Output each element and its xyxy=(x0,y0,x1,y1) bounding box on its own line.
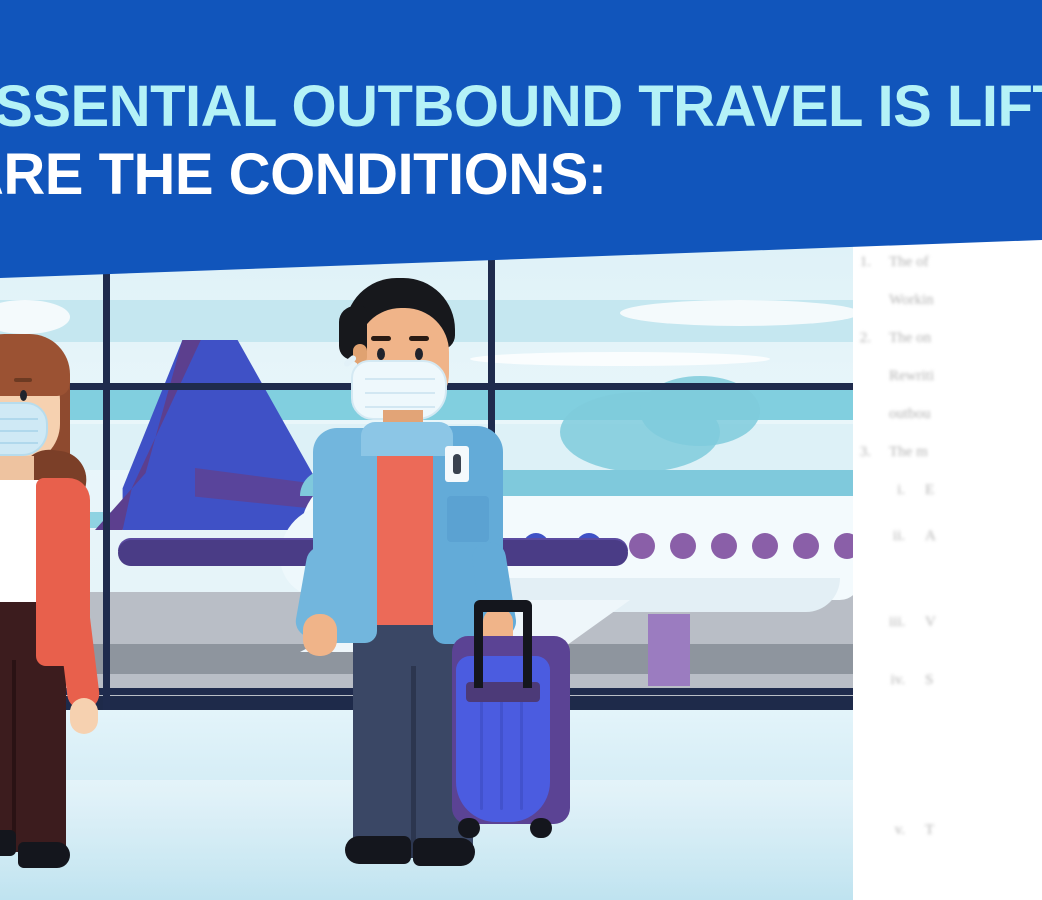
list-item: 1. The of xyxy=(853,248,1042,276)
list-item-number: 3. xyxy=(853,438,871,466)
eyebrow xyxy=(409,336,429,341)
sublist-item-text: S xyxy=(925,666,1042,694)
sublist-item: v. T xyxy=(889,816,1042,844)
airplane-window xyxy=(752,533,778,559)
cargo-container xyxy=(648,614,690,686)
list-item: 3. The m xyxy=(853,438,1042,466)
airplane-window xyxy=(834,533,853,559)
sublist-item-text: A xyxy=(925,522,1042,550)
list-item: 2. The on xyxy=(853,324,1042,352)
list-item-text: Rewriti xyxy=(889,362,1042,390)
left-hand xyxy=(303,614,337,656)
sublist-item-text: T xyxy=(925,816,1042,844)
hair-front xyxy=(0,334,70,396)
id-badge-figure xyxy=(453,454,461,474)
list-item-continuation: Rewriti xyxy=(853,362,1042,390)
shoe xyxy=(0,830,16,856)
suitcase-handle-post xyxy=(523,606,532,688)
sublist-item-number: i. xyxy=(889,476,905,504)
eye xyxy=(20,390,27,401)
jacket-collar xyxy=(361,422,453,456)
rolling-suitcase xyxy=(452,600,572,860)
suitcase-wheel xyxy=(458,818,480,838)
airplane-window xyxy=(670,533,696,559)
sublist-item: ii. A xyxy=(889,522,1042,550)
suitcase-handle-bar xyxy=(474,600,532,612)
list-item-text: Workin xyxy=(889,286,1042,314)
list-item-text: outbou xyxy=(889,400,1042,428)
list-item-continuation: outbou xyxy=(853,400,1042,428)
shoe xyxy=(18,842,70,868)
list-item-text: The m xyxy=(889,438,1042,466)
suitcase-rib xyxy=(500,690,503,810)
list-item-continuation: Workin xyxy=(853,286,1042,314)
airplane-window xyxy=(711,533,737,559)
banner-title-line-2: ARE THE CONDITIONS: xyxy=(0,146,607,204)
eyebrow xyxy=(14,378,32,382)
banner-title-line-1: ESSENTIAL OUTBOUND TRAVEL IS LIFT xyxy=(0,78,1042,136)
list-item-text: The of xyxy=(889,248,1042,276)
conditions-sublist: i. E ii. A iii. V iv. S v. T xyxy=(853,476,1042,844)
cloud-shape xyxy=(620,300,853,326)
sublist-item: iii. V xyxy=(889,608,1042,636)
list-item-number-blank xyxy=(853,362,871,390)
list-item-number: 2. xyxy=(853,324,871,352)
sublist-item-number: iii. xyxy=(889,608,905,636)
woman-traveler xyxy=(0,330,123,890)
sublist-item-text: E xyxy=(925,476,1042,504)
infographic-page: 1. The of Workin 2. The on Rewriti outbo… xyxy=(0,0,1042,900)
jacket-pocket xyxy=(447,496,489,542)
sublist-item: i. E xyxy=(889,476,1042,504)
face-mask xyxy=(0,402,48,456)
airplane-window xyxy=(629,533,655,559)
conditions-list: 1. The of Workin 2. The on Rewriti outbo… xyxy=(853,248,1042,466)
eyebrow xyxy=(371,336,391,341)
eye xyxy=(377,348,385,360)
sublist-item-number: ii. xyxy=(889,522,905,550)
leg-seam xyxy=(12,660,16,852)
sublist-item-number: v. xyxy=(889,816,905,844)
list-item-text: The on xyxy=(889,324,1042,352)
suitcase-rib xyxy=(480,690,483,810)
right-hand xyxy=(70,698,98,734)
leg-seam xyxy=(411,666,416,858)
list-item-number-blank xyxy=(853,400,871,428)
sublist-item: iv. S xyxy=(889,666,1042,694)
airplane-window xyxy=(793,533,819,559)
shoe xyxy=(345,836,411,864)
sublist-item-number: iv. xyxy=(889,666,905,694)
list-item-number-blank xyxy=(853,286,871,314)
eye xyxy=(415,348,423,360)
suitcase-front-panel xyxy=(456,656,550,822)
sublist-item-text: V xyxy=(925,608,1042,636)
list-item-number: 1. xyxy=(853,248,871,276)
suitcase-wheel xyxy=(530,818,552,838)
suitcase-handle-post xyxy=(474,606,483,688)
suitcase-rib xyxy=(520,690,523,810)
